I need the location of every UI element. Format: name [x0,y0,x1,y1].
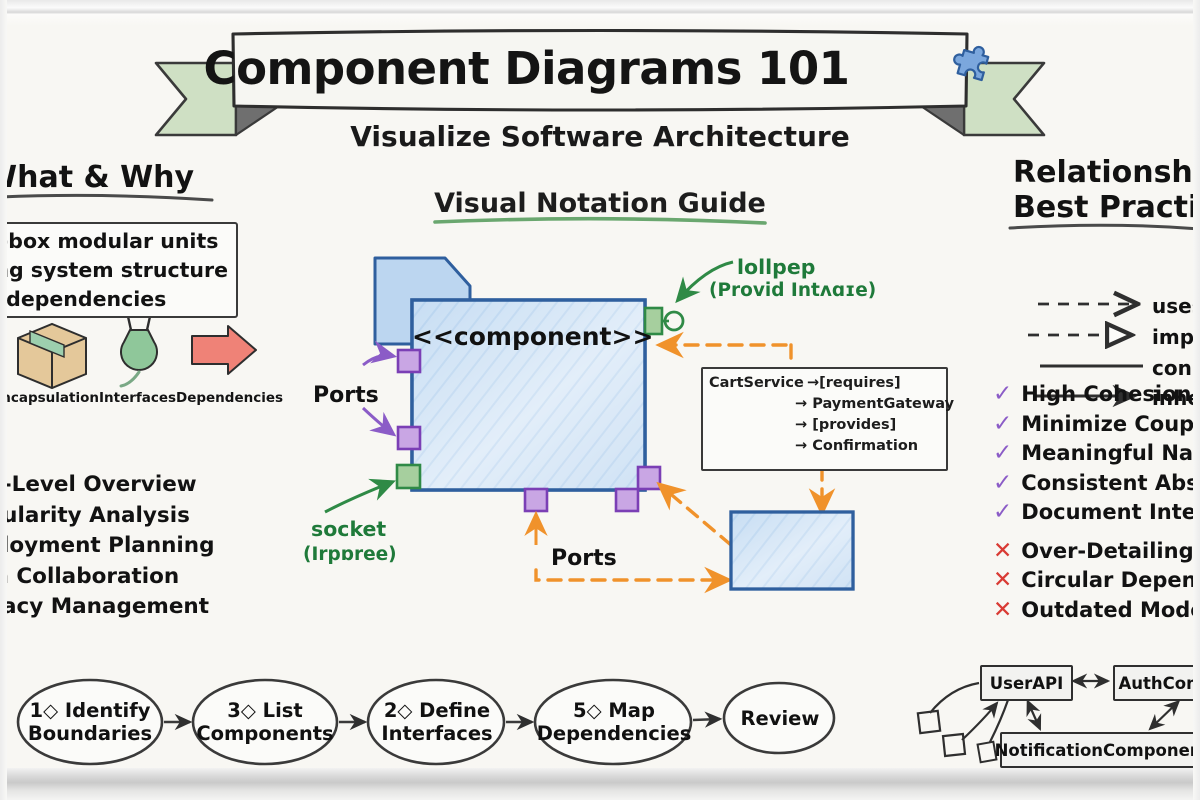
practice-label: Minimize Coupling [1021,412,1200,436]
check-icon: ✓ [993,383,1012,406]
check-icon: ✓ [993,413,1012,436]
note-requires: →[requires] [807,375,901,391]
mini-node-user-api: UserAPI [980,665,1073,701]
note-arrow-0: → [807,375,819,391]
icon-caption-dependencies: Dependencies [176,390,283,406]
use-cases-list: gh-Level Overview odularity Analysis epl… [0,470,222,623]
workflow-step-2: 3◇ List Components [195,698,335,746]
note-arrow-2: → [795,417,807,433]
whiteboard-frame-top [0,0,1200,14]
cross-icon: ✕ [993,569,1012,592]
practice-label: High Cohesion [1021,382,1191,406]
note-cartservice: CartService [709,375,804,391]
practice-label: Consistent Abstra [1021,471,1200,495]
whiteboard-frame-bottom [0,768,1200,800]
lollipop-label-line2: (Provid Intʌɑɪe) [709,280,876,301]
workflow-step-3: 2◇ Define Interfaces [370,698,504,746]
ports-label-bottom: Ports [551,546,617,571]
note-confirmation-text: Confirmation [812,438,918,454]
icon-caption-interfaces: Interfaces [99,390,176,406]
note-payment-gateway: → PaymentGateway [795,396,954,412]
practice-label: Circular Depende [1021,568,1200,592]
practice-label: Over-Detailing [1021,539,1193,563]
note-confirmation: → Confirmation [795,438,918,454]
check-icon: ✓ [993,442,1012,465]
practice-item: ✕Over-Detailing [993,539,1200,569]
section-heading-relationships: Relationships [1013,155,1200,190]
best-practices-list: ✓High Cohesion ✓Minimize Coupling ✓Meani… [993,382,1200,627]
check-icon: ✓ [993,501,1012,524]
mini-node-auth-component: AuthCompo [1113,665,1200,701]
practice-item: ✓Document Interfa [993,500,1200,530]
note-provides-text: [provides] [812,417,896,433]
practice-label: Outdated Models [1021,598,1200,622]
practice-label: Meaningful Name [1021,441,1200,465]
page-subtitle: Visualize Software Architecture [0,120,1200,153]
practice-list-divider [993,530,1200,539]
mini-node-notification-component: NotificationComponent [1000,732,1200,768]
note-provides: → [provides] [795,417,896,433]
practice-item: ✓Meaningful Name [993,441,1200,471]
icon-caption-encapsulation: Encapsulation [0,390,99,406]
lollipop-label-line1: lollpep [737,255,815,279]
note-requires-text: [requires] [819,375,901,391]
section-heading-visual-notation-guide: Visual Notation Guide [0,188,1200,219]
whiteboard-frame-right [1193,0,1200,800]
practice-item: ✓Consistent Abstra [993,471,1200,501]
whiteboard-frame-left [0,0,7,800]
note-arrow-3: → [795,438,807,454]
practice-item: ✓High Cohesion [993,382,1200,412]
note-payment-gateway-text: PaymentGateway [812,396,954,412]
socket-label-line2: (Irpɒree) [303,544,397,565]
workflow-step-1: 1◇ Identify Boundaries [20,698,160,746]
check-icon: ✓ [993,472,1012,495]
cross-icon: ✕ [993,599,1012,622]
practice-item: ✕Outdated Models [993,598,1200,628]
cross-icon: ✕ [993,540,1012,563]
practice-label: Document Interfa [1021,500,1200,524]
practice-item: ✕Circular Depende [993,568,1200,598]
page-title: Component Diagrams 101 [232,31,966,106]
component-stereotype-label: <<component>> [412,322,644,351]
workflow-step-5: Review [728,703,832,733]
workflow-step-4: 5◇ Map Dependencies [538,698,690,746]
socket-label-line1: socket [311,517,386,541]
page-title-text: Component Diagrams 101 [204,42,850,95]
practice-item: ✓Minimize Coupling [993,412,1200,442]
definition-text: ck-box modular units ving system structu… [0,227,230,314]
ports-label-left: Ports [313,383,379,408]
note-arrow-1: → [795,396,807,412]
